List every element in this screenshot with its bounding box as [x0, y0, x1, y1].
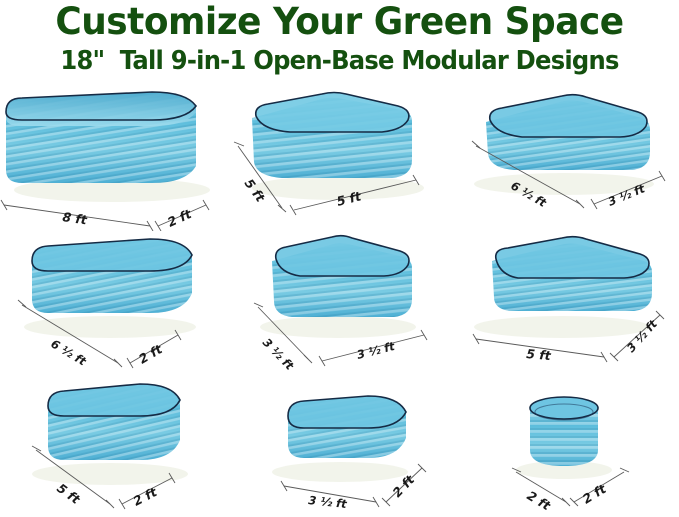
- planter-illustration-8x2-oval: 8 ft 2 ft: [0, 88, 226, 231]
- dimension-width-label: 3 ½ ft: [260, 335, 297, 373]
- dimension-length-label: 3 ½ ft: [308, 493, 348, 511]
- dimension-length-label: 8 ft: [62, 209, 89, 227]
- dimension-width-label: 2 ft: [131, 484, 161, 509]
- planter-card-2x2-round[interactable]: 2 ft 2 ft: [452, 374, 678, 517]
- planter-card-3half-x-3half-square[interactable]: 3 ½ ft 3 ½ ft: [226, 231, 452, 374]
- dimension-width-label: 5 ft: [242, 176, 269, 205]
- planter-card-5x3half-rect[interactable]: 5 ft 3 ½ ft: [452, 231, 678, 374]
- dimension-length-label: 2 ft: [580, 481, 610, 507]
- planter-illustration-3half-x-3half-square: 3 ½ ft 3 ½ ft: [226, 231, 452, 374]
- planter-card-5x2-oval[interactable]: 5 ft 2 ft: [0, 374, 226, 517]
- planter-illustration-3half-x-2-oval: 3 ½ ft 2 ft: [226, 374, 452, 517]
- planter-illustration-2x2-round: 2 ft 2 ft: [452, 374, 678, 517]
- planter-card-8x2-oval[interactable]: 8 ft 2 ft: [0, 88, 226, 231]
- planter-illustration-5x3half-rect: 5 ft 3 ½ ft: [452, 231, 678, 374]
- planter-card-3half-x-2-oval[interactable]: 3 ½ ft 2 ft: [226, 374, 452, 517]
- planter-illustration-6half-x-2-oval: 6 ½ ft 2 ft: [0, 231, 226, 374]
- page-subtitle: 18" Tall 9-in-1 Open-Base Modular Design…: [17, 44, 662, 78]
- infographic-header: Customize Your Green Space 18" Tall 9-in…: [0, 0, 679, 88]
- dimension-width-label: 2 ft: [165, 206, 194, 230]
- planter-card-6half-x-3half-rect[interactable]: 6 ½ ft 3 ½ ft: [452, 88, 678, 231]
- planter-card-5x5-square[interactable]: 5 ft 5 ft: [226, 88, 452, 231]
- planter-grid: 8 ft 2 ft: [0, 88, 679, 517]
- planter-illustration-5x5-square: 5 ft 5 ft: [226, 88, 452, 231]
- planter-illustration-6half-x-3half-rect: 6 ½ ft 3 ½ ft: [452, 88, 678, 231]
- planter-card-6half-x-2-oval[interactable]: 6 ½ ft 2 ft: [0, 231, 226, 374]
- dimension-width-label: 2 ft: [524, 488, 554, 514]
- dimension-length-label: 3 ½ ft: [355, 339, 396, 362]
- dimension-length-label: 5 ft: [526, 346, 553, 363]
- dimension-length-label: 5 ft: [54, 480, 83, 507]
- page-title: Customize Your Green Space: [10, 0, 669, 44]
- planter-illustration-5x2-oval: 5 ft 2 ft: [0, 374, 226, 517]
